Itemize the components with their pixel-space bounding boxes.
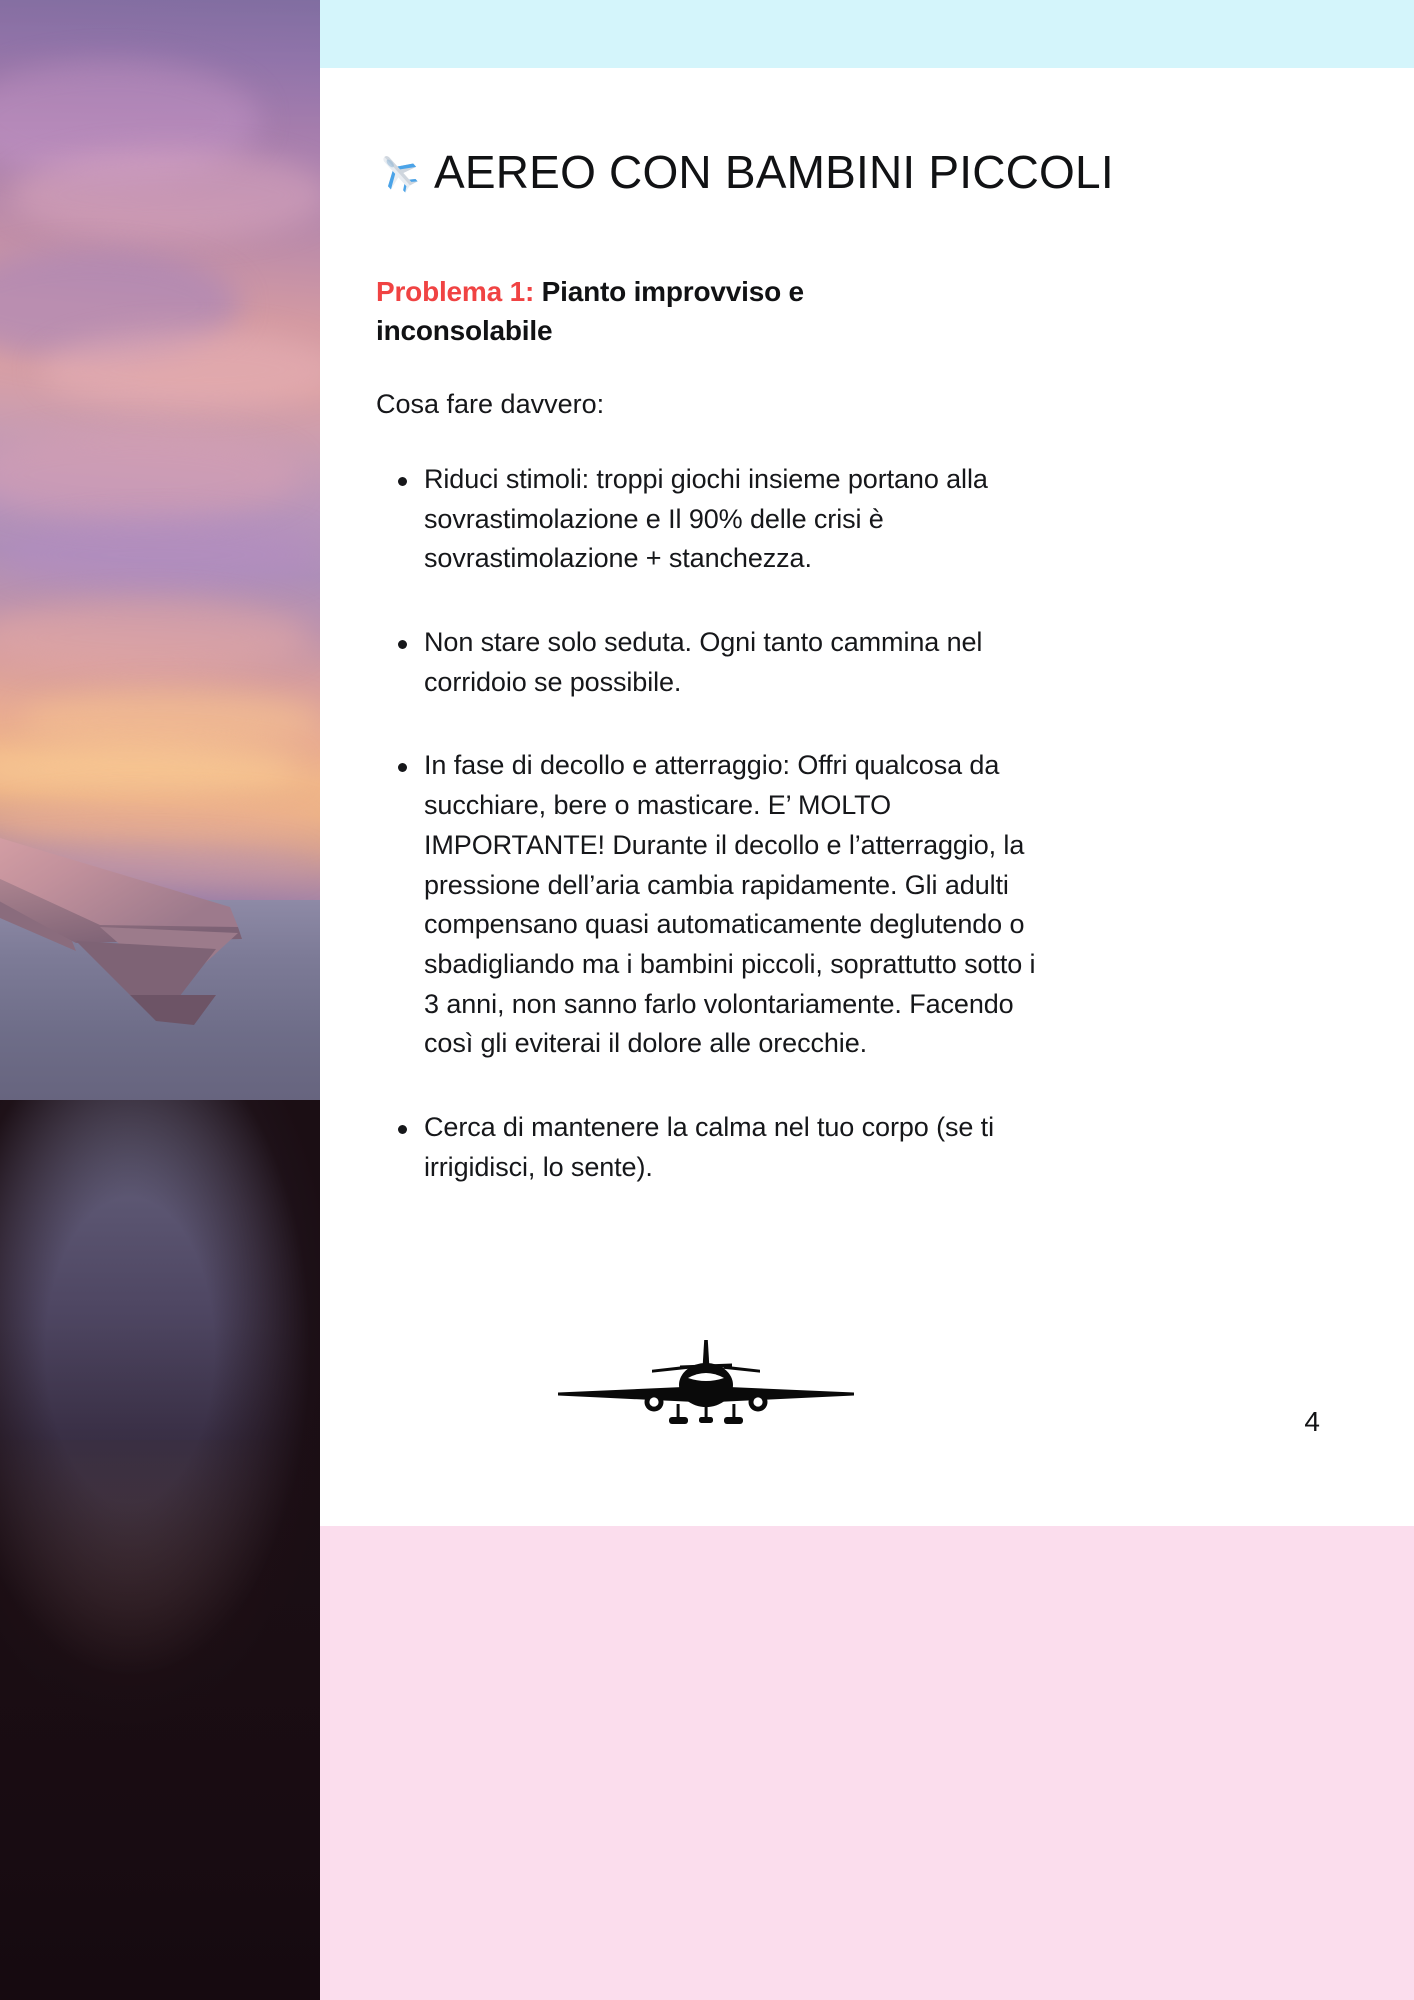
- airplane-window-photo: [0, 0, 320, 2000]
- photo-shade-overlay: [0, 0, 320, 2000]
- list-item: Riduci stimoli: troppi giochi insieme po…: [376, 460, 1036, 579]
- list-item: Cerca di mantenere la calma nel tuo corp…: [376, 1108, 1036, 1187]
- list-item: In fase di decollo e atterraggio: Offri …: [376, 746, 1036, 1064]
- document-page: AEREO CON BAMBINI PICCOLI Problema 1: Pi…: [0, 0, 1414, 2000]
- page-number: 4: [1304, 1406, 1320, 1438]
- airplane-emoji-icon: [376, 148, 422, 205]
- content-inner: AEREO CON BAMBINI PICCOLI Problema 1: Pi…: [376, 68, 1356, 1526]
- top-color-band: [320, 0, 1414, 68]
- problem-tag: Problema 1:: [376, 276, 534, 307]
- airplane-front-silhouette-icon: [556, 1336, 856, 1428]
- page-title: AEREO CON BAMBINI PICCOLI: [376, 146, 1336, 205]
- problem-heading: Problema 1: Pianto improvviso e inconsol…: [376, 273, 896, 350]
- page-title-text: AEREO CON BAMBINI PICCOLI: [434, 146, 1114, 198]
- list-item: Non stare solo seduta. Ogni tanto cammin…: [376, 623, 1036, 702]
- content-panel: AEREO CON BAMBINI PICCOLI Problema 1: Pi…: [320, 0, 1414, 2000]
- bottom-color-band: [320, 1526, 1414, 2000]
- lead-text: Cosa fare davvero:: [376, 386, 1076, 424]
- advice-list: Riduci stimoli: troppi giochi insieme po…: [376, 460, 1036, 1231]
